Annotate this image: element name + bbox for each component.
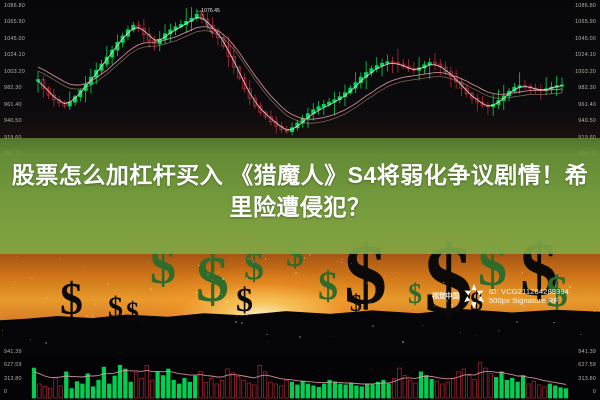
axis-tick-label: 1065.90 [4, 19, 25, 25]
dollar-sign-icon: $ [60, 278, 83, 319]
light-speck [134, 293, 135, 294]
axis-tick-label: 940.50 [578, 118, 596, 124]
light-speck [395, 272, 396, 273]
axis-tick-label: 940.50 [4, 118, 22, 124]
axis-tick-label: 961.40 [4, 102, 22, 108]
light-speck [222, 278, 224, 280]
light-speck [292, 294, 293, 295]
light-speck [372, 325, 374, 327]
axis-tick-label: 982.30 [578, 85, 596, 91]
axis-tick-label: 941.39 [578, 349, 596, 355]
axis-tick-label: 627.59 [578, 362, 596, 368]
axis-tick-label: 0 [593, 389, 596, 395]
axis-tick-label: 1065.90 [575, 19, 596, 25]
axis-tick-label: 313.80 [4, 376, 22, 382]
axis-tick-label: 313.80 [578, 376, 596, 382]
light-speck [304, 257, 305, 258]
light-speck [402, 341, 403, 342]
light-speck [198, 265, 199, 266]
light-speck [45, 342, 46, 343]
dollar-sign-icon: $ [318, 268, 338, 304]
light-speck [460, 332, 461, 333]
light-speck [142, 321, 143, 322]
light-speck [241, 322, 243, 324]
light-speck [247, 315, 248, 316]
axis-tick-label: 627.59 [4, 362, 22, 368]
vcg-star-icon [463, 283, 485, 309]
light-speck [317, 280, 318, 281]
price-chart-panel: 1086.801065.901045.001024.101003.20982.3… [0, 0, 600, 160]
price-annotation-label: ←1076.45 [196, 8, 220, 14]
light-speck [211, 283, 212, 284]
light-speck [195, 292, 197, 294]
watermark-id: ID: VCG211284289394 [489, 287, 569, 296]
axis-tick-label: 1003.20 [575, 69, 596, 75]
dollar-sign-icon: $ [126, 300, 139, 323]
light-speck [213, 272, 214, 273]
watermark-text: ID: VCG211284289394 500px Signature RF [489, 287, 569, 306]
screenshot-stage: $$$$$$$$$$$$$$$$$ 1086.801065.901045.001… [0, 0, 600, 400]
dollar-sign-icon: $ [236, 286, 253, 317]
light-speck [231, 258, 233, 260]
dollar-sign-icon: $ [108, 294, 123, 321]
light-speck [210, 258, 211, 259]
price-chart-svg [0, 0, 600, 160]
light-speck [147, 262, 148, 263]
axis-tick-label: 1045.00 [4, 36, 25, 42]
axis-tick-label: 1086.80 [575, 3, 596, 9]
light-speck [46, 297, 48, 299]
light-speck [437, 331, 438, 332]
light-speck [150, 288, 151, 289]
volume-chart-svg [0, 348, 600, 400]
light-speck [498, 330, 499, 331]
light-speck [553, 322, 554, 323]
light-speck [529, 258, 530, 259]
light-speck [82, 266, 84, 268]
volume-chart-panel: 941.39627.59313.800 941.39627.59313.800 [0, 348, 600, 400]
light-speck [30, 339, 31, 340]
page-title: 股票怎么加杠杆买入 《猎魔人》S4将弱化争议剧情！希里险遭侵犯？ [0, 160, 600, 223]
light-speck [31, 277, 32, 278]
axis-tick-label: 1086.80 [4, 3, 25, 9]
axis-tick-label: 982.30 [4, 85, 22, 91]
light-speck [2, 330, 3, 331]
light-speck [93, 317, 94, 318]
axis-tick-label: 1003.20 [4, 69, 25, 75]
dollar-sign-icon: $ [408, 282, 422, 307]
axis-tick-label: 941.39 [4, 349, 22, 355]
light-speck [295, 272, 297, 274]
light-speck [267, 341, 268, 342]
light-speck [186, 308, 187, 309]
axis-tick-label: 1024.10 [4, 52, 25, 58]
watermark-brand-label: 视觉中国 [432, 291, 459, 301]
axis-tick-label: 1045.00 [575, 36, 596, 42]
dollar-sign-icon: $ [350, 294, 362, 316]
watermark-license: 500px Signature RF [489, 296, 569, 305]
light-speck [299, 336, 301, 338]
light-speck [17, 256, 18, 257]
light-speck [246, 277, 248, 279]
axis-tick-label: 0 [4, 389, 7, 395]
light-speck [366, 282, 368, 284]
light-speck [207, 274, 209, 276]
light-speck [221, 294, 222, 295]
axis-tick-label: 961.40 [578, 102, 596, 108]
watermark: 视觉中国 ID: VCG211284289394 500px Signature… [432, 283, 569, 309]
light-speck [235, 321, 237, 323]
light-speck [226, 301, 227, 302]
light-speck [476, 335, 477, 336]
axis-tick-label: 1024.10 [575, 52, 596, 58]
light-speck [107, 283, 109, 285]
